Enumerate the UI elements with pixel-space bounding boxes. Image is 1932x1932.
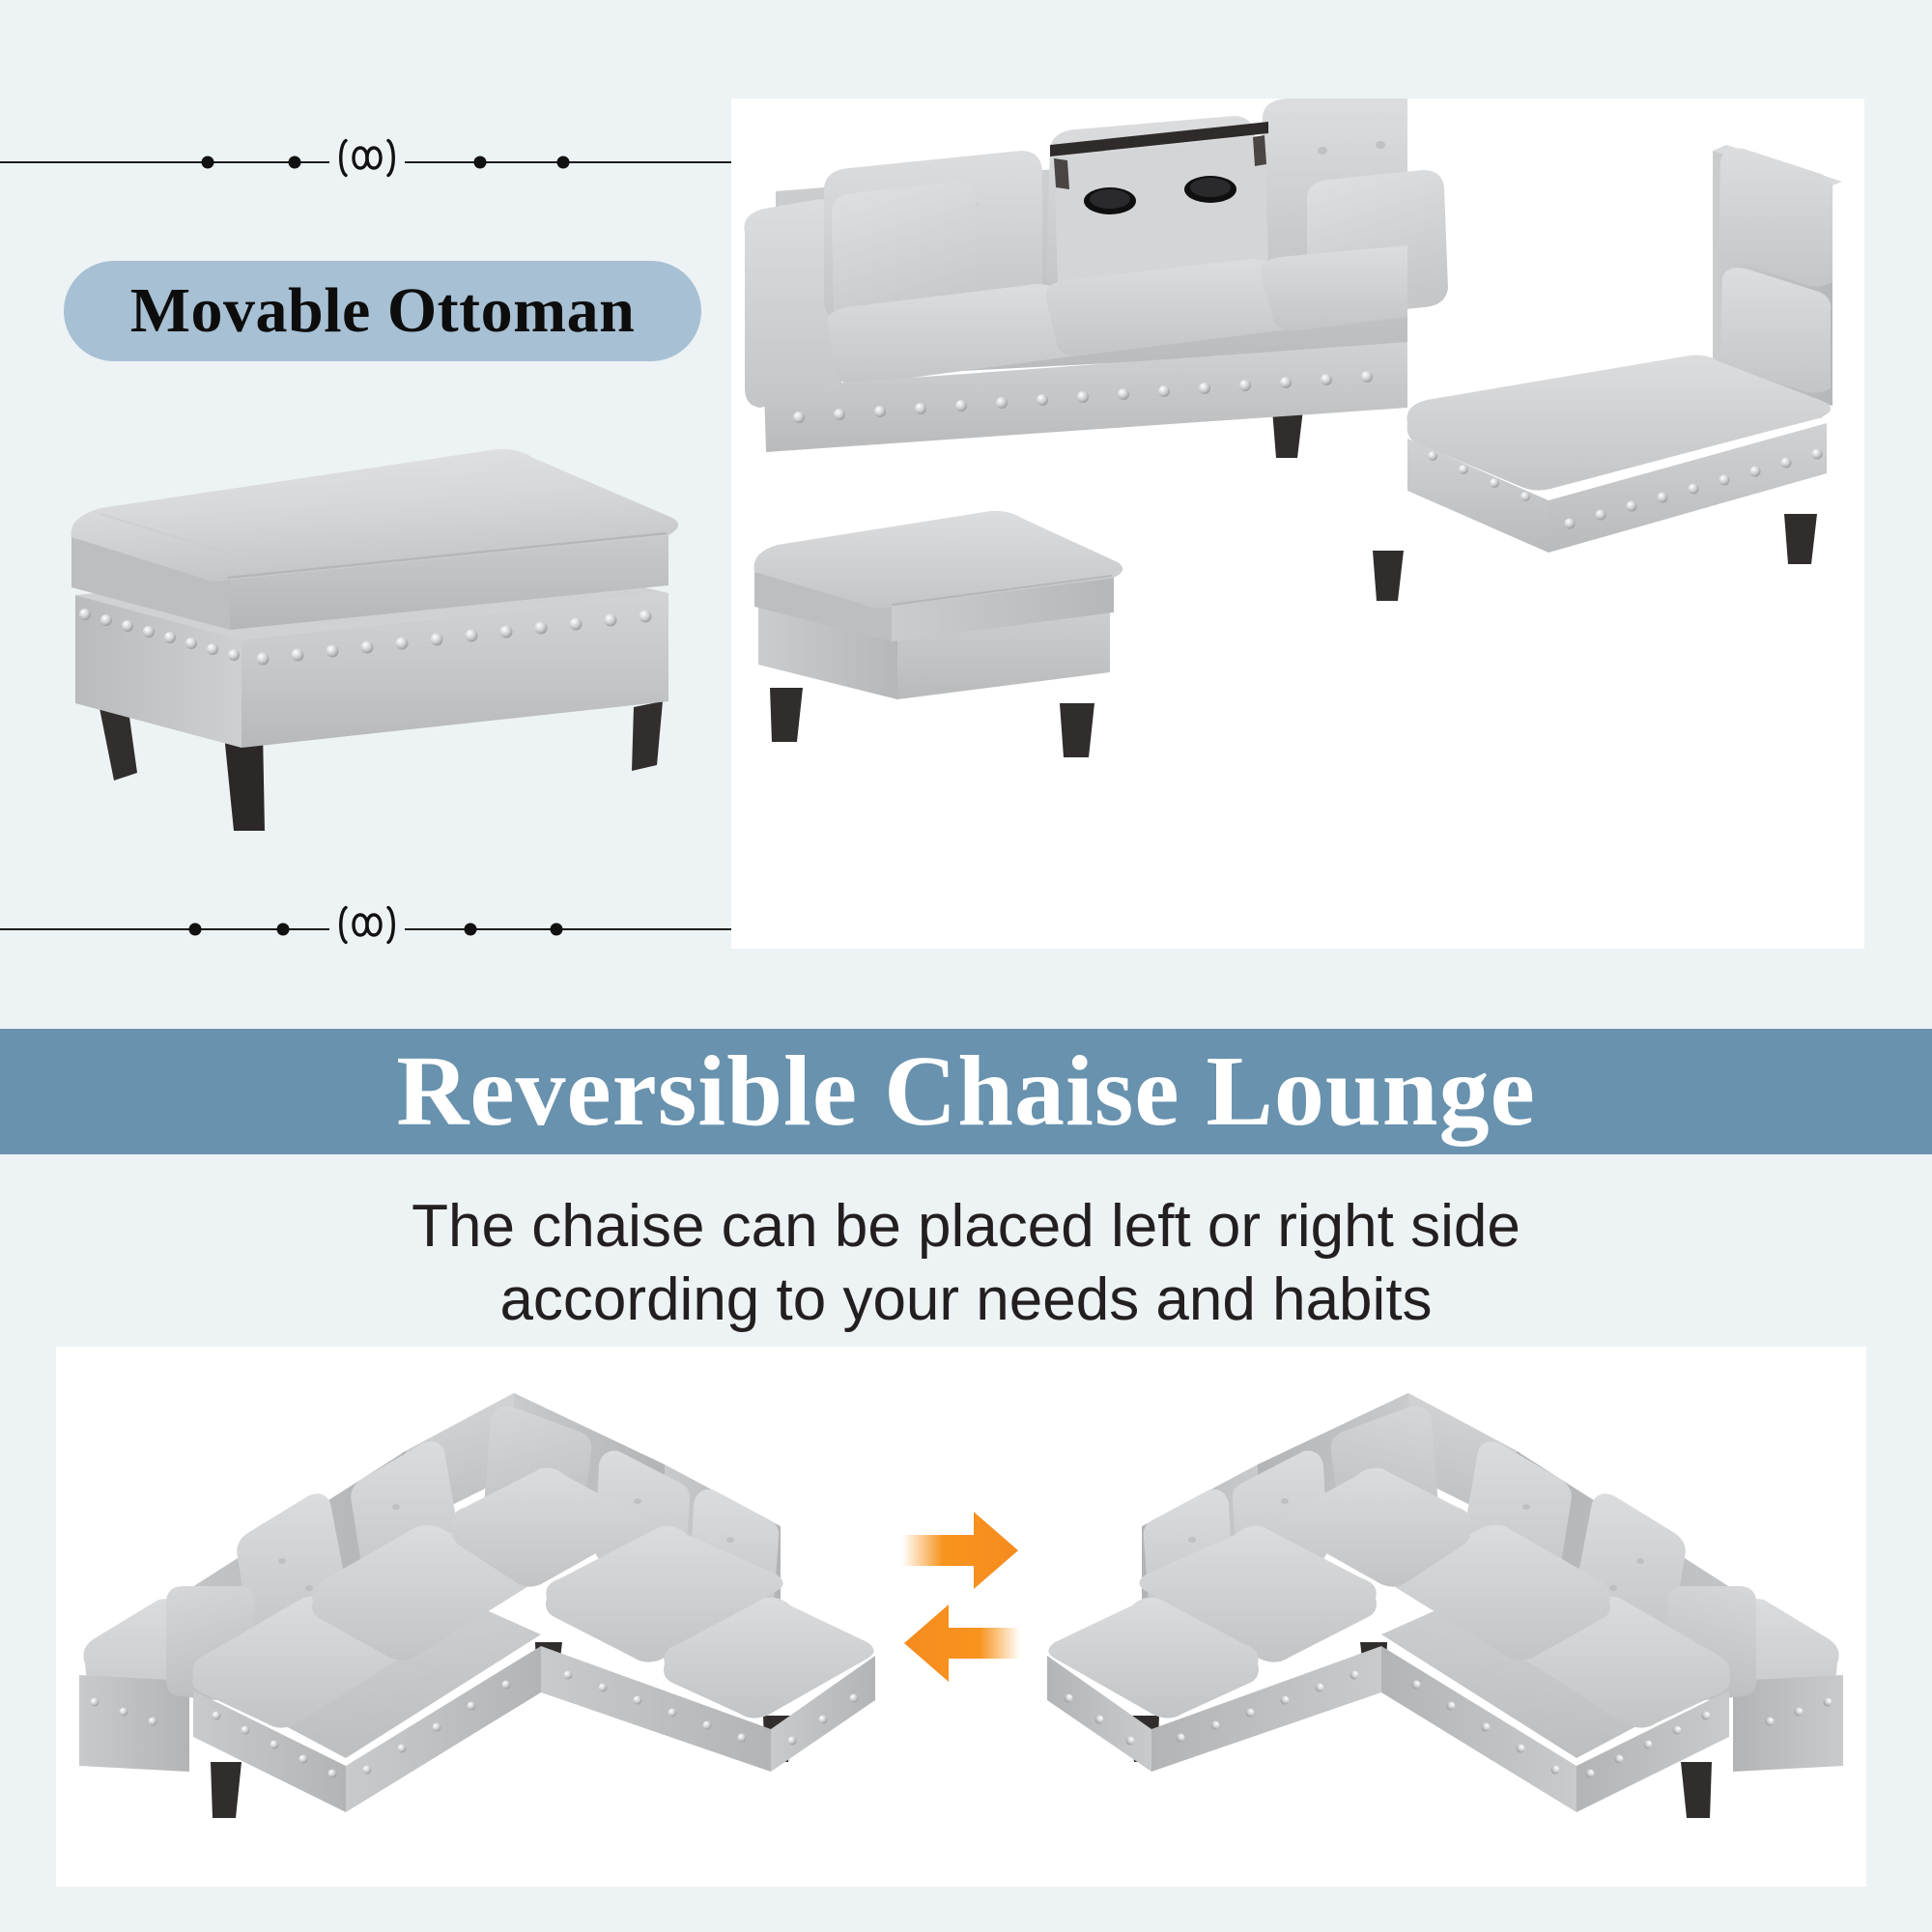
- left-ottoman-photo: [58, 425, 696, 831]
- movable-ottoman-badge-label: Movable Ottoman: [130, 274, 636, 348]
- sectional-chaise-left-illustration: [1026, 1356, 1857, 1878]
- chaise-right-configuration: [66, 1356, 896, 1878]
- ornament-knot-icon: [332, 132, 402, 185]
- chaise-left-configuration: [1026, 1356, 1857, 1878]
- reversible-chaise: [1406, 145, 1842, 553]
- divider-dot: [474, 156, 487, 169]
- top-decorative-divider: [0, 143, 734, 182]
- arrow-left-icon: [904, 1605, 1020, 1682]
- divider-dot: [557, 156, 570, 169]
- banner-title: Reversible Chaise Lounge: [396, 1041, 1536, 1142]
- divider-dot: [465, 923, 477, 936]
- divider-ornament-icon: [329, 899, 405, 960]
- divider-ornament-icon: [329, 132, 405, 193]
- divider-dot: [202, 156, 214, 169]
- sectional-with-ottoman-illustration: [731, 99, 1864, 949]
- divider-dot: [277, 923, 290, 936]
- sectional-chaise-right-illustration: [66, 1356, 896, 1878]
- top-product-photo-panel: [731, 99, 1864, 949]
- swap-arrows: [898, 1506, 1024, 1690]
- subtitle-line-1: The chaise can be placed left or right s…: [0, 1190, 1932, 1264]
- divider-dot: [551, 923, 563, 936]
- ornament-knot-icon: [332, 899, 402, 952]
- reversible-chaise-banner: Reversible Chaise Lounge: [0, 1029, 1932, 1154]
- subtitle-line-2: according to your needs and habits: [0, 1264, 1932, 1337]
- divider-dot: [189, 923, 202, 936]
- movable-ottoman-illustration: [58, 425, 696, 831]
- three-seat-sofa: [744, 99, 1448, 452]
- banner-subtitle: The chaise can be placed left or right s…: [0, 1190, 1932, 1336]
- bottom-decorative-divider: [0, 910, 734, 949]
- bottom-product-photo-panel: [56, 1347, 1866, 1887]
- divider-dot: [289, 156, 301, 169]
- arrow-right-icon: [902, 1512, 1018, 1589]
- movable-ottoman-badge: Movable Ottoman: [64, 261, 701, 361]
